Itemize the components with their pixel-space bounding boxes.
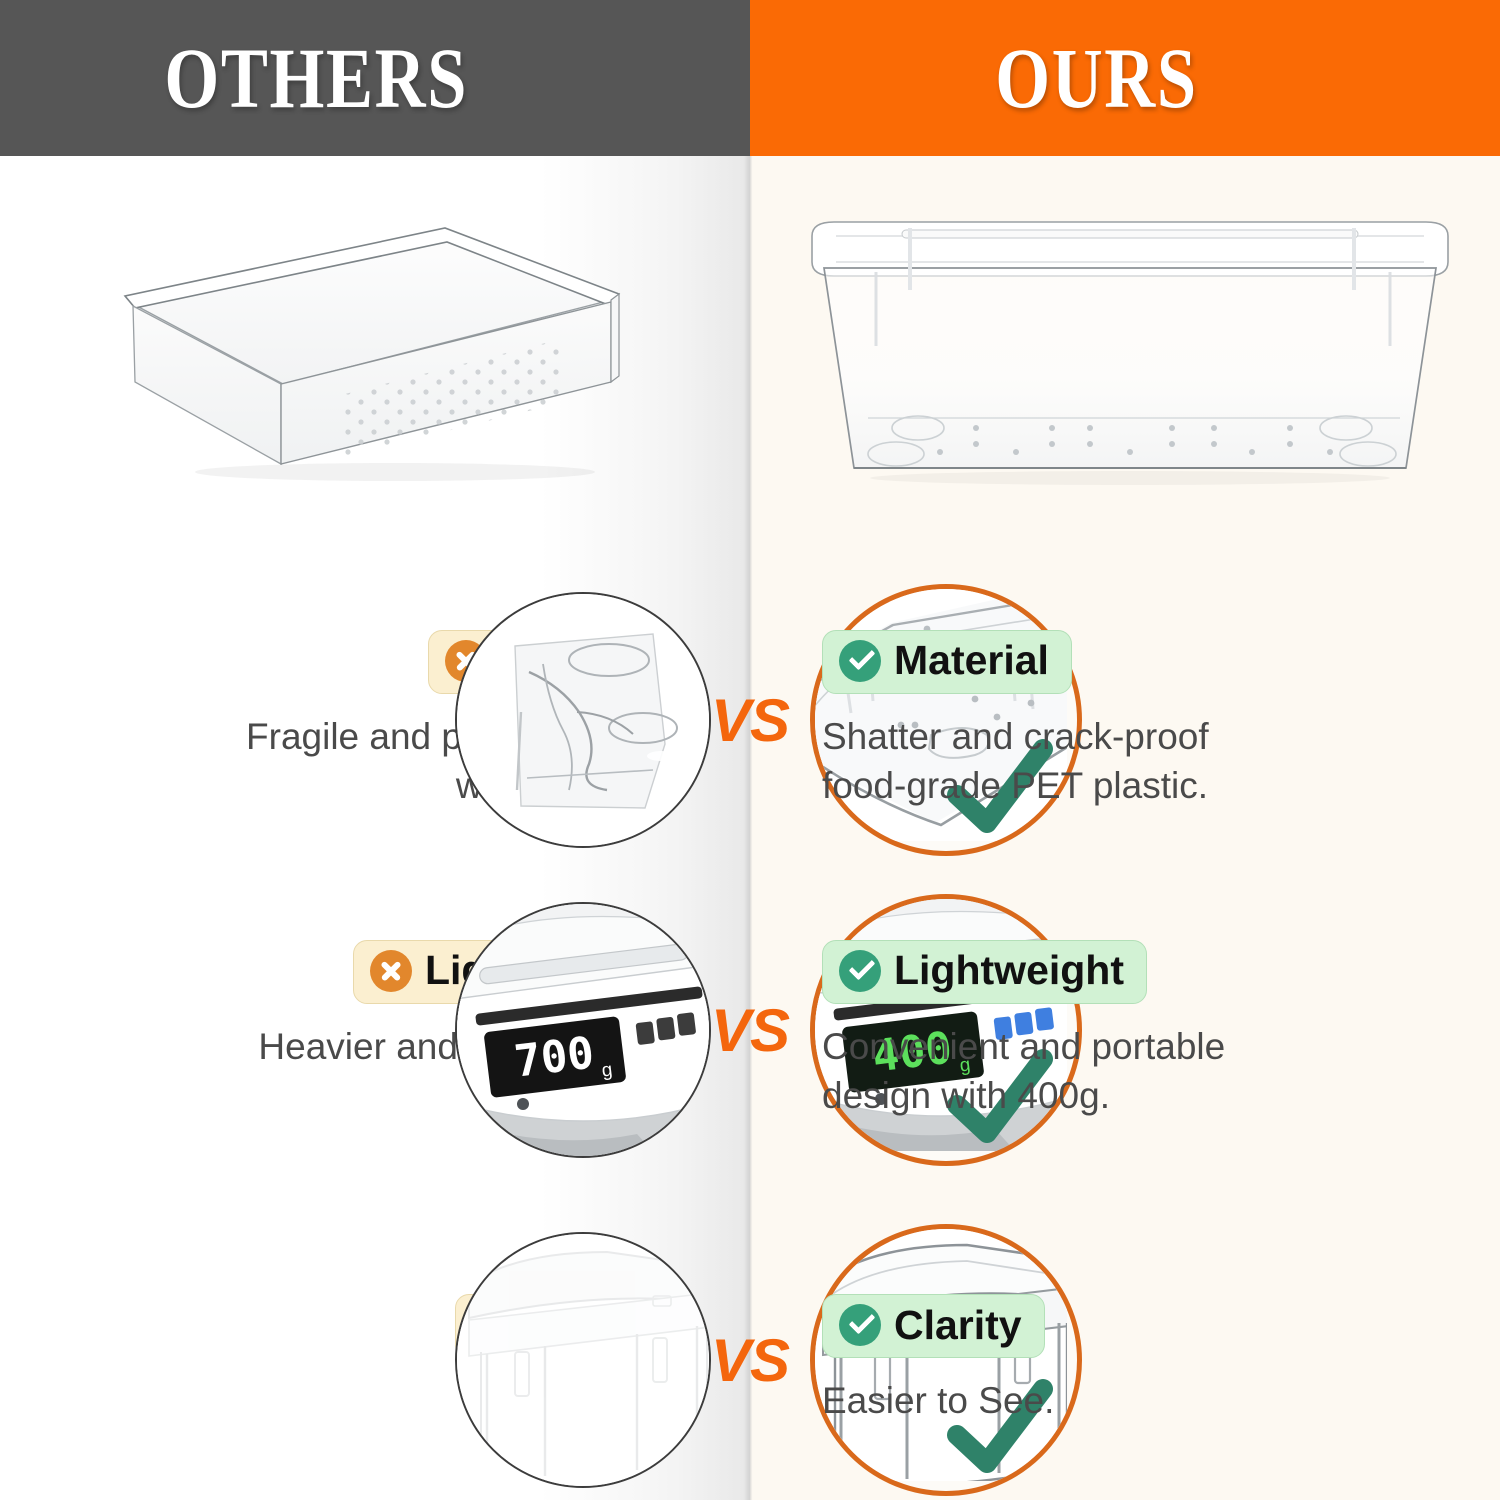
header-others-banner: OTHERS xyxy=(0,0,750,156)
check-circle-icon xyxy=(839,640,881,682)
lightweight-good-badge: Lightweight xyxy=(822,940,1147,1004)
comparison-infographic: OTHERS OURS xyxy=(0,0,1500,1500)
feature-row-clarity: Clarity Opaque. VS xyxy=(0,1210,1500,1510)
ours-product-image xyxy=(790,206,1470,506)
material-vs-label: VS xyxy=(700,570,800,870)
material-good-badge-label: Material xyxy=(894,640,1049,681)
lightweight-vs-label: VS xyxy=(700,880,800,1180)
lightweight-right-text-side: Lightweight Convenient and portable desi… xyxy=(800,880,1500,1180)
others-product-image xyxy=(95,216,645,516)
scale-reading-left: 700 xyxy=(512,1027,597,1087)
clarity-right-textblock: Clarity Easier to See. xyxy=(800,1294,1054,1426)
header-ours-banner: OURS xyxy=(750,0,1500,156)
material-good-description: Shatter and crack-proof food-grade PET p… xyxy=(822,713,1292,811)
feature-row-lightweight: Lightweight Heavier and less portable wi… xyxy=(0,880,1500,1180)
material-others-photo xyxy=(455,592,711,848)
header-others-label: OTHERS xyxy=(164,35,468,121)
feature-row-material: Material Fragile and pose a danger when … xyxy=(0,570,1500,870)
clarity-good-badge: Clarity xyxy=(822,1294,1045,1358)
lightweight-good-badge-label: Lightweight xyxy=(894,950,1124,991)
clarity-good-description: Easier to See. xyxy=(822,1377,1054,1426)
header-ours-label: OURS xyxy=(995,35,1197,121)
lightweight-good-description: Convenient and portable design with 400g… xyxy=(822,1023,1292,1121)
material-good-badge: Material xyxy=(822,630,1072,694)
x-circle-icon xyxy=(370,950,412,992)
lightweight-right-textblock: Lightweight Convenient and portable desi… xyxy=(800,940,1292,1121)
clarity-right-text-side: Clarity Easier to See. xyxy=(800,1210,1500,1510)
clarity-others-photo xyxy=(455,1232,711,1488)
material-right-text-side: Material Shatter and crack-proof food-gr… xyxy=(800,570,1500,870)
hero-product-row xyxy=(0,156,1500,576)
material-right-textblock: Material Shatter and crack-proof food-gr… xyxy=(800,630,1292,811)
lightweight-others-photo: 700 g xyxy=(455,902,711,1158)
check-circle-icon xyxy=(839,950,881,992)
check-circle-icon xyxy=(839,1304,881,1346)
clarity-vs-label: VS xyxy=(700,1210,800,1510)
comparison-header: OTHERS OURS xyxy=(0,0,1500,156)
clarity-good-badge-label: Clarity xyxy=(894,1305,1022,1346)
